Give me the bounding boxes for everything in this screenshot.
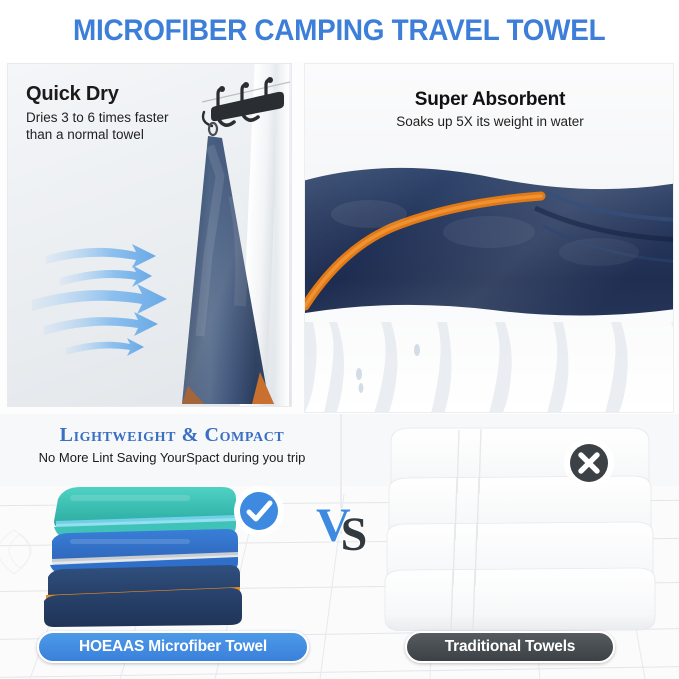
wall-hook-rack-icon [200, 76, 292, 146]
x-circle-icon [563, 437, 615, 489]
lightweight-text-block: Lightweight & Compact No More Lint Savin… [22, 424, 322, 465]
versus-mark: VS [316, 502, 367, 550]
lightweight-heading: Lightweight & Compact [22, 424, 322, 447]
quick-dry-subtitle-line1: Dries 3 to 6 times faster [26, 109, 206, 126]
page-title: MICROFIBER CAMPING TRAVEL TOWEL [73, 14, 605, 48]
title-bar: MICROFIBER CAMPING TRAVEL TOWEL [0, 0, 679, 62]
panel-super-absorbent: Super Absorbent Soaks up 5X its weight i… [304, 63, 674, 413]
label-hoeaas-microfiber-towel: HOEAAS Microfiber Towel [37, 631, 309, 663]
super-absorbent-text-block: Super Absorbent Soaks up 5X its weight i… [305, 89, 674, 129]
super-absorbent-subtitle: Soaks up 5X its weight in water [305, 114, 674, 129]
versus-s-letter: S [341, 511, 368, 559]
quick-dry-heading: Quick Dry [26, 83, 206, 106]
panel-quick-dry: Quick Dry Dries 3 to 6 times faster than… [7, 63, 292, 407]
check-circle-icon [233, 485, 285, 537]
super-absorbent-heading: Super Absorbent [305, 89, 674, 111]
traditional-towel-stack-image [383, 424, 658, 631]
microfiber-towel-stack-image [30, 481, 260, 631]
quick-dry-text-block: Quick Dry Dries 3 to 6 times faster than… [26, 83, 206, 144]
wet-towel-image [304, 156, 674, 352]
quick-dry-subtitle-line2: than a normal towel [26, 126, 206, 143]
hanging-towel-image [148, 136, 288, 407]
infographic-page: MICROFIBER CAMPING TRAVEL TOWEL Quick Dr… [0, 0, 679, 679]
label-traditional-towels: Traditional Towels [405, 631, 615, 663]
lightweight-subtitle: No More Lint Saving YourSpact during you… [22, 450, 322, 465]
